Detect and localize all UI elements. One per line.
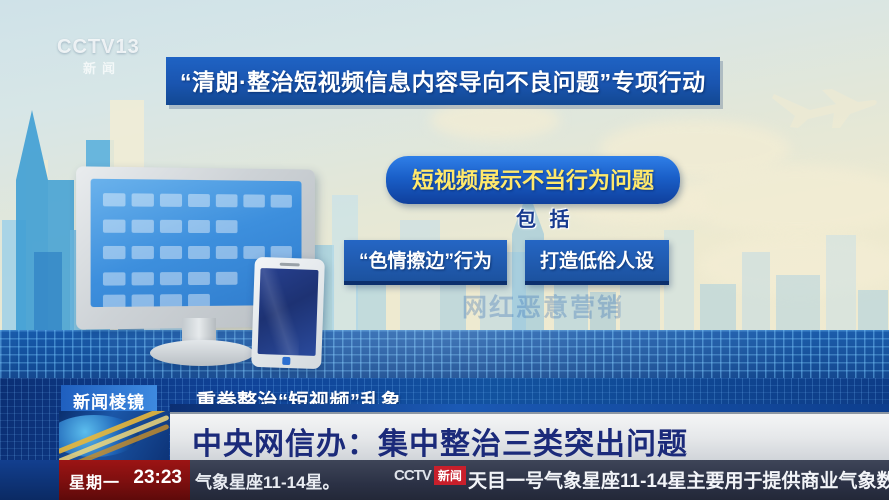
headline-text: 中央网信办：集中整治三类突出问题 (192, 419, 688, 463)
graphic-item-row: “色情擦边”行为 打造低俗人设 (344, 240, 669, 285)
cctv13-logo-sub: 新闻 (83, 58, 121, 77)
campaign-banner-text: “清朗·整治短视频信息内容导向不良问题”专项行动 (180, 69, 706, 95)
graphic-connector-label: 包 括 (516, 203, 574, 232)
clock-box: 星期一 23:23 (59, 460, 190, 500)
ticker-cctv-logo: CCTV 新闻 (394, 466, 466, 485)
ticker-text-right: 天目一号气象星座11-14星主要用于提供商业气象数 (468, 466, 889, 493)
airplane-icon (770, 86, 880, 132)
cctv-logo-text: CCTV (57, 36, 115, 58)
graphic-item-label: “色情擦边”行为 (359, 251, 492, 272)
tablet-speaker (280, 263, 300, 267)
ticker-cctv-text: CCTV (394, 467, 431, 484)
graphic-pill-title: 短视频展示不当行为问题 (386, 156, 680, 204)
cctv13-logo: CCTV13 (57, 36, 140, 59)
campaign-banner: “清朗·整治短视频信息内容导向不良问题”专项行动 (166, 57, 720, 105)
tablet-home-button (282, 357, 290, 365)
ticker-left-block (0, 460, 59, 500)
cloud-shape (680, 165, 889, 235)
ticker-text-left: 气象星座11-14星。 (195, 468, 340, 493)
graphic-pill-title-text: 短视频展示不当行为问题 (412, 168, 654, 193)
program-globe-graphic (59, 411, 169, 461)
graphic-item-box: “色情擦边”行为 (344, 240, 507, 285)
monitor-base (150, 340, 254, 366)
weekday-label: 星期一 (69, 469, 120, 493)
clock-time: 23:23 (133, 467, 182, 489)
graphic-item-box: 打造低俗人设 (525, 240, 669, 285)
tablet-graphic (251, 257, 325, 369)
ticker-cctv-badge: 新闻 (434, 466, 466, 485)
ghost-item-label: 网红恶意营销 (462, 288, 624, 324)
program-tag-label: 新闻棱镜 (73, 393, 145, 412)
tablet-screen (258, 268, 319, 356)
headline-bar: 中央网信办：集中整治三类突出问题 (170, 412, 889, 462)
broadcast-screenshot: CCTV13 新闻 “清朗·整治短视频信息内容导向不良问题”专项行动 网红恶意营… (0, 0, 889, 500)
cloud-shape (430, 100, 560, 140)
cctv-logo-number: 13 (115, 36, 139, 58)
graphic-item-label: 打造低俗人设 (540, 251, 654, 272)
